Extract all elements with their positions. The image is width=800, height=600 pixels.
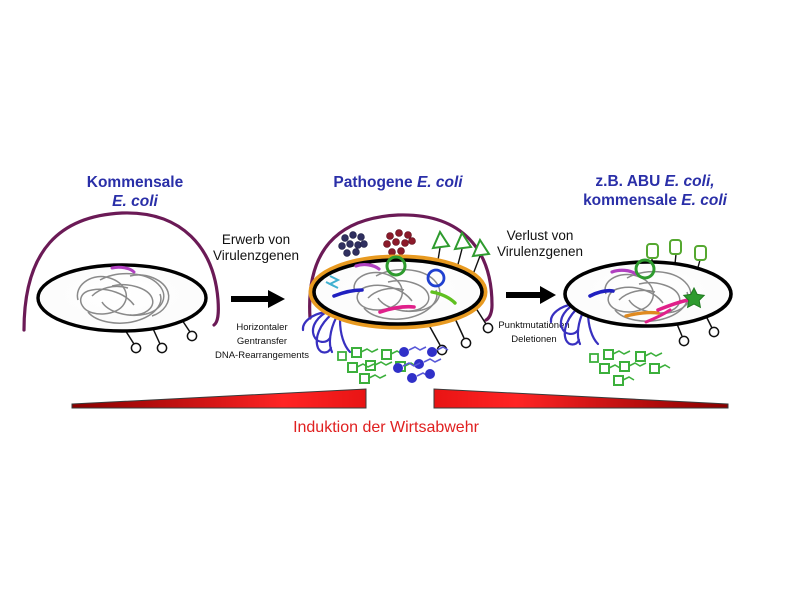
diagram-canvas: Kommensale E. coli Pathogene E. coli z.B… xyxy=(0,0,800,600)
cell-commensal xyxy=(24,213,218,353)
header-abu-line2: kommensale E. coli xyxy=(583,192,728,209)
adhesin-square-icon xyxy=(647,244,658,258)
secreted-blue-icon xyxy=(393,363,420,373)
arrow-acquisition-icon xyxy=(231,290,285,308)
adhesin-triangle-icon xyxy=(433,232,449,248)
header-abu-line1: z.B. ABU E. coli, xyxy=(595,173,714,190)
secreted-green-icon xyxy=(620,362,646,371)
adhesin-triangle-icon xyxy=(455,233,471,249)
header-pathogenic-plain: Pathogene xyxy=(333,174,417,191)
header-abu-italic1: E. coli, xyxy=(665,173,715,190)
secreted-green-icon xyxy=(614,376,634,385)
header-abu-plain1: z.B. ABU xyxy=(595,173,664,190)
pilus-tip-icon xyxy=(157,343,166,352)
pilus-tip-icon xyxy=(679,336,688,345)
secreted-blue-icon xyxy=(407,373,428,383)
header-commensal: Kommensale E. coli xyxy=(87,174,184,210)
arrow-acquisition-below-line3: DNA-Rearrangements xyxy=(215,350,309,361)
arrow-loss-below-line1: Punktmutationen xyxy=(498,320,569,331)
cell-membrane xyxy=(38,265,206,331)
secreted-green-icon xyxy=(600,364,620,373)
secreted-blue-group xyxy=(393,347,448,383)
header-abu-plain2: kommensale xyxy=(583,192,681,209)
secreted-green-icon xyxy=(352,348,378,357)
arrow-loss-above-line1: Verlust von xyxy=(507,228,574,243)
header-pathogenic-italic: E. coli xyxy=(417,174,463,191)
arrow-loss-icon xyxy=(506,286,556,304)
secreted-green-icon xyxy=(636,352,662,361)
header-abu-italic2: E. coli xyxy=(681,192,727,209)
arrow-right-icon xyxy=(231,290,285,308)
header-commensal-line1: Kommensale xyxy=(87,174,184,191)
pilus-tip-icon xyxy=(187,331,196,340)
header-commensal-line2: E. coli xyxy=(112,193,158,210)
secreted-blue-icon xyxy=(425,369,435,379)
secreted-blue-icon xyxy=(399,347,426,357)
cell-abu xyxy=(551,240,731,385)
figure-root: Kommensale E. coli Pathogene E. coli z.B… xyxy=(0,0,800,600)
arrow-acquisition-above-line1: Erwerb von xyxy=(222,232,290,247)
secreted-green-icon xyxy=(360,374,386,383)
arrow-loss-above-line2: Virulenzgenen xyxy=(497,244,583,259)
arrow-acquisition-above-line2: Virulenzgenen xyxy=(213,248,299,263)
secreted-green-icon xyxy=(590,354,598,362)
maroon-dot-cluster xyxy=(384,230,416,256)
adhesin-square-icon xyxy=(670,240,681,254)
secreted-green-icon xyxy=(338,352,346,360)
arrow-right-icon xyxy=(506,286,556,304)
bottom-bar-group: Induktion der Wirtsabwehr xyxy=(72,389,728,436)
pilus-tip-icon xyxy=(483,323,492,332)
arrow-acquisition-below-line2: Gentransfer xyxy=(237,336,287,347)
bar-right-triangle xyxy=(434,389,728,408)
bar-left-triangle xyxy=(72,389,366,408)
arrow-loss-below-line2: Deletionen xyxy=(511,334,556,345)
cell-pathogenic xyxy=(303,215,493,383)
pilus-tip-icon xyxy=(461,338,470,347)
adhesin-square-icon xyxy=(695,246,706,260)
secreted-green-icon xyxy=(650,364,670,373)
arrow-acquisition-group: Erwerb von Virulenzgenen Horizontaler Ge… xyxy=(213,232,309,361)
navy-dot-cluster xyxy=(339,232,368,257)
arrow-acquisition-below-line1: Horizontaler xyxy=(236,322,287,333)
secreted-green-icon xyxy=(604,350,630,359)
pilus-tip-icon xyxy=(131,343,140,352)
secreted-green-group xyxy=(590,350,670,385)
pilus-tip-icon xyxy=(709,327,718,336)
header-pathogenic-line1: Pathogene E. coli xyxy=(333,174,463,191)
header-abu: z.B. ABU E. coli, kommensale E. coli xyxy=(583,173,728,209)
header-pathogenic: Pathogene E. coli xyxy=(333,174,463,191)
bottom-caption-text: Induktion der Wirtsabwehr xyxy=(293,419,480,436)
